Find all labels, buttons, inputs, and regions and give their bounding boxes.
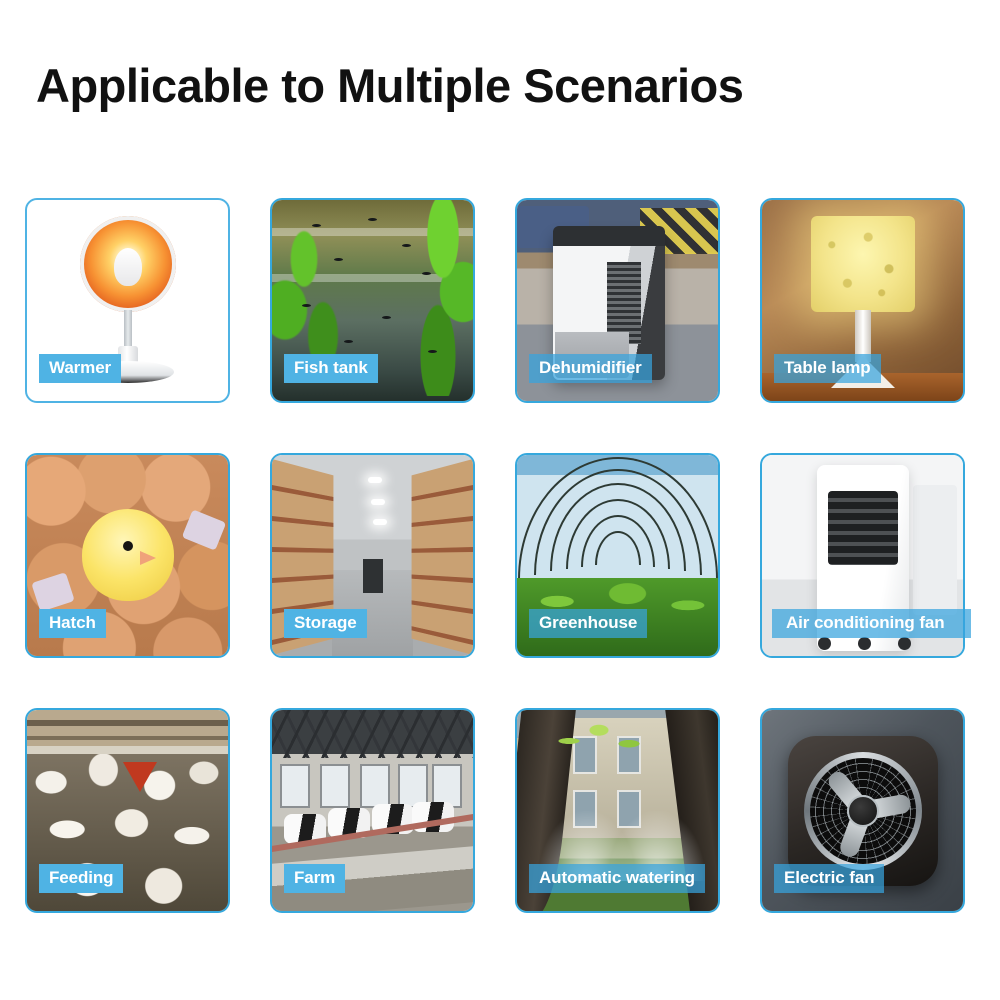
card-label-badge: Greenhouse — [529, 609, 647, 638]
card-label-badge: Fish tank — [284, 354, 378, 383]
scenario-card-electric-fan[interactable]: Electric fan — [760, 708, 965, 913]
scenario-card-automatic-watering[interactable]: Automatic watering — [515, 708, 720, 913]
scenario-card-greenhouse[interactable]: Greenhouse — [515, 453, 720, 658]
scenario-card-fish-tank[interactable]: Fish tank — [270, 198, 475, 403]
scenario-card-hatch[interactable]: Hatch — [25, 453, 230, 658]
scenario-card-farm[interactable]: Farm — [270, 708, 475, 913]
card-label-badge: Hatch — [39, 609, 106, 638]
card-label-badge: Electric fan — [774, 864, 884, 893]
scenario-card-table-lamp[interactable]: Table lamp — [760, 198, 965, 403]
scenario-card-dehumidifier[interactable]: Dehumidifier — [515, 198, 720, 403]
scenario-card-warmer[interactable]: Warmer — [25, 198, 230, 403]
card-label-badge: Table lamp — [774, 354, 881, 383]
scenario-card-air-conditioning-fan[interactable]: Air conditioning fan — [760, 453, 965, 658]
card-label-badge: Farm — [284, 864, 345, 893]
scenario-card-storage[interactable]: Storage — [270, 453, 475, 658]
scenario-card-feeding[interactable]: Feeding — [25, 708, 230, 913]
card-label-badge: Storage — [284, 609, 367, 638]
scenario-grid: Warmer Fish tank — [25, 198, 975, 913]
card-label-badge: Feeding — [39, 864, 123, 893]
card-label-badge: Warmer — [39, 354, 121, 383]
page-title: Applicable to Multiple Scenarios — [36, 58, 743, 113]
card-label-badge: Air conditioning fan — [772, 609, 971, 638]
card-label-badge: Automatic watering — [529, 864, 705, 893]
card-label-badge: Dehumidifier — [529, 354, 652, 383]
